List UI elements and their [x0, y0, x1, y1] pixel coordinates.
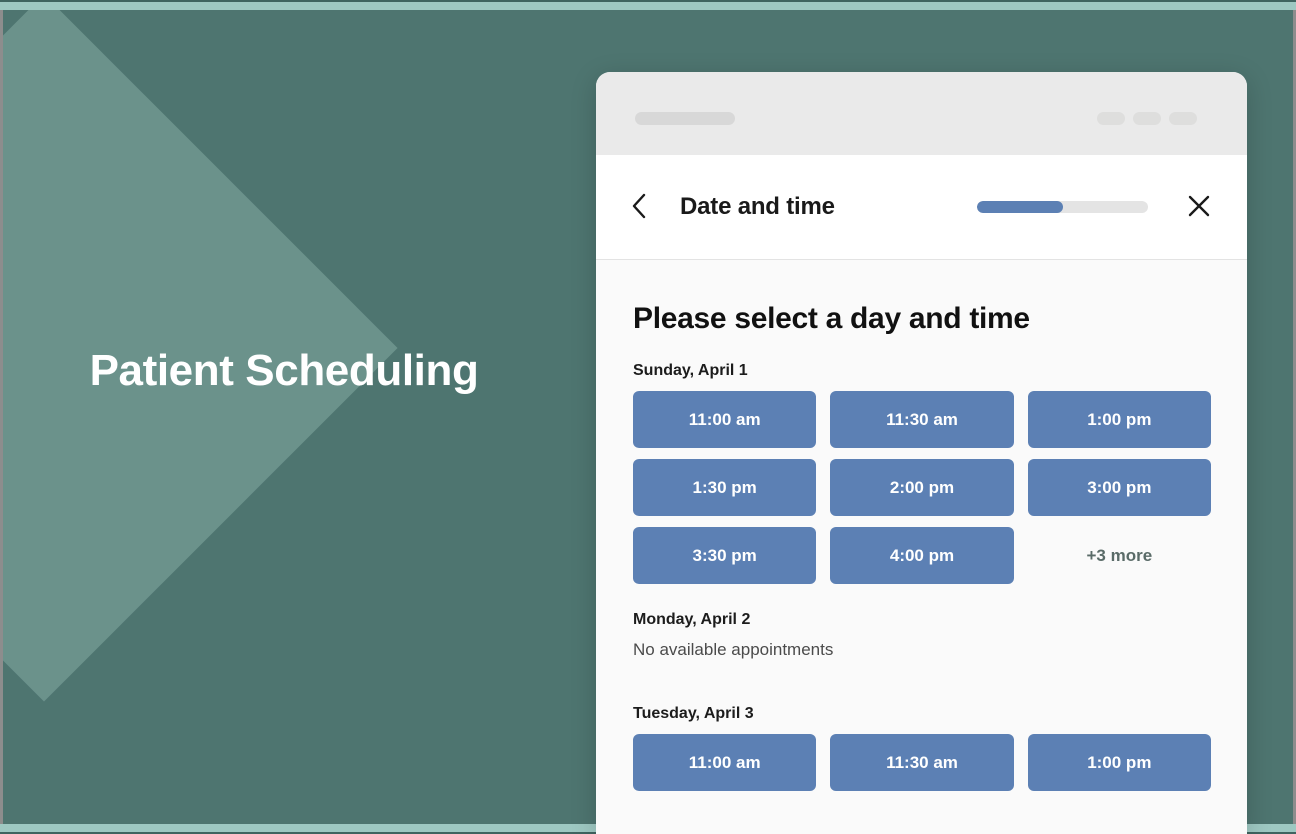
close-control-icon[interactable]: [1169, 112, 1197, 125]
modal-header: Date and time: [596, 155, 1247, 260]
spacer: [633, 660, 1211, 678]
time-slot-button[interactable]: 4:00 pm: [830, 527, 1013, 584]
page-title: Patient Scheduling: [0, 346, 596, 396]
day-label: Tuesday, April 3: [633, 705, 1211, 723]
time-slot-button[interactable]: 3:00 pm: [1028, 459, 1211, 516]
chevron-left-icon: [631, 193, 647, 222]
top-accent-strip: [0, 0, 1296, 10]
progress-bar: [977, 201, 1148, 213]
time-slot-button[interactable]: 1:00 pm: [1028, 391, 1211, 448]
time-slot-button[interactable]: 1:30 pm: [633, 459, 816, 516]
time-slot-button[interactable]: 11:00 am: [633, 734, 816, 791]
minimize-control-icon[interactable]: [1097, 112, 1125, 125]
time-slot-grid: 11:00 am11:30 am1:00 pm: [633, 734, 1211, 791]
modal-body: Please select a day and time Sunday, Apr…: [596, 260, 1247, 834]
close-icon: [1186, 193, 1212, 222]
day-group: Sunday, April 111:00 am11:30 am1:00 pm1:…: [633, 362, 1211, 584]
no-appointments-message: No available appointments: [633, 640, 1211, 660]
time-slot-button[interactable]: 11:00 am: [633, 391, 816, 448]
day-groups-container: Sunday, April 111:00 am11:30 am1:00 pm1:…: [633, 362, 1211, 791]
browser-tab-placeholder[interactable]: [635, 112, 735, 125]
show-more-slots-button[interactable]: +3 more: [1028, 527, 1211, 584]
day-label: Sunday, April 1: [633, 362, 1211, 380]
section-heading: Please select a day and time: [633, 302, 1211, 336]
time-slot-button[interactable]: 3:30 pm: [633, 527, 816, 584]
day-group: Tuesday, April 311:00 am11:30 am1:00 pm: [633, 705, 1211, 791]
time-slot-button[interactable]: 11:30 am: [830, 391, 1013, 448]
left-edge-rail: [0, 0, 3, 834]
time-slot-button[interactable]: 2:00 pm: [830, 459, 1013, 516]
day-label: Monday, April 2: [633, 611, 1211, 629]
time-slot-button[interactable]: 1:00 pm: [1028, 734, 1211, 791]
browser-chrome-bar: [596, 72, 1247, 155]
window-controls-group: [1097, 112, 1197, 125]
close-button[interactable]: [1181, 189, 1217, 225]
screenshot-stage: Patient Scheduling Date and time: [0, 0, 1296, 834]
modal-title: Date and time: [680, 193, 835, 221]
browser-window: Date and time Please select a day and ti…: [596, 72, 1247, 834]
maximize-control-icon[interactable]: [1133, 112, 1161, 125]
time-slot-button[interactable]: 11:30 am: [830, 734, 1013, 791]
progress-bar-fill: [977, 201, 1063, 213]
time-slot-grid: 11:00 am11:30 am1:00 pm1:30 pm2:00 pm3:0…: [633, 391, 1211, 584]
day-group: Monday, April 2No available appointments: [633, 611, 1211, 678]
back-button[interactable]: [622, 190, 656, 224]
